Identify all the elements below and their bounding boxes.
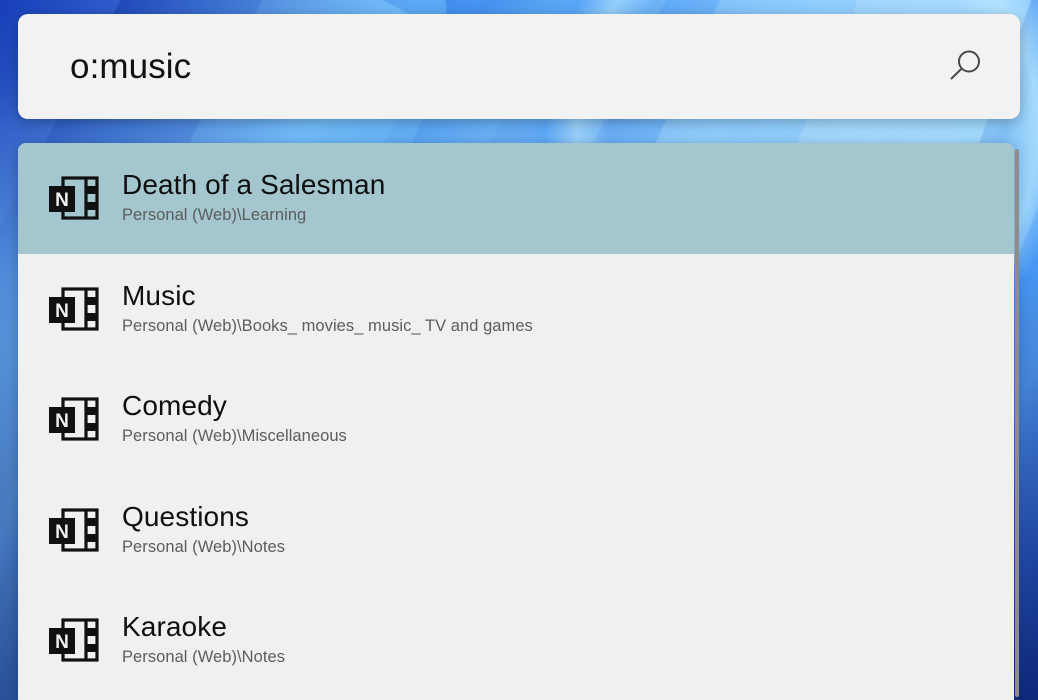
result-subtitle: Personal (Web)\Notes bbox=[122, 536, 1014, 558]
result-title: Questions bbox=[122, 502, 1014, 532]
onenote-icon: N bbox=[44, 505, 102, 555]
result-subtitle: Personal (Web)\Miscellaneous bbox=[122, 425, 1014, 447]
svg-text:N: N bbox=[55, 632, 69, 653]
search-bar[interactable] bbox=[18, 14, 1020, 119]
result-row[interactable]: N Music Personal (Web)\Books_ movies_ mu… bbox=[18, 254, 1014, 365]
result-title: Comedy bbox=[122, 391, 1014, 421]
result-row[interactable]: N Questions Personal (Web)\Notes bbox=[18, 475, 1014, 586]
result-subtitle: Personal (Web)\Books_ movies_ music_ TV … bbox=[122, 315, 1014, 337]
result-text-block: Questions Personal (Web)\Notes bbox=[122, 502, 1014, 559]
result-text-block: Comedy Personal (Web)\Miscellaneous bbox=[122, 391, 1014, 448]
result-text-block: Death of a Salesman Personal (Web)\Learn… bbox=[122, 170, 1014, 227]
result-row[interactable]: N Comedy Personal (Web)\Miscellaneous bbox=[18, 364, 1014, 475]
onenote-icon: N bbox=[44, 173, 102, 223]
results-scrollbar[interactable] bbox=[1015, 149, 1019, 697]
svg-text:N: N bbox=[55, 301, 69, 322]
result-row[interactable]: N Karaoke Personal (Web)\Notes bbox=[18, 585, 1014, 696]
search-input[interactable] bbox=[70, 47, 942, 87]
svg-text:N: N bbox=[55, 190, 69, 211]
result-subtitle: Personal (Web)\Learning bbox=[122, 204, 1014, 226]
result-subtitle: Personal (Web)\Notes bbox=[122, 646, 1014, 668]
result-row[interactable]: N Death of a Salesman Personal (Web)\Lea… bbox=[18, 143, 1014, 254]
result-title: Death of a Salesman bbox=[122, 170, 1014, 200]
result-title: Karaoke bbox=[122, 612, 1014, 642]
onenote-icon: N bbox=[44, 284, 102, 334]
onenote-icon: N bbox=[44, 615, 102, 665]
result-title: Music bbox=[122, 281, 1014, 311]
search-icon[interactable] bbox=[942, 44, 988, 90]
result-text-block: Karaoke Personal (Web)\Notes bbox=[122, 612, 1014, 669]
desktop-wallpaper: N Death of a Salesman Personal (Web)\Lea… bbox=[0, 0, 1038, 700]
svg-text:N: N bbox=[55, 522, 69, 543]
onenote-icon: N bbox=[44, 394, 102, 444]
svg-text:N: N bbox=[55, 411, 69, 432]
search-results-panel: N Death of a Salesman Personal (Web)\Lea… bbox=[18, 143, 1014, 700]
search-results-list: N Death of a Salesman Personal (Web)\Lea… bbox=[18, 143, 1014, 700]
result-text-block: Music Personal (Web)\Books_ movies_ musi… bbox=[122, 281, 1014, 338]
